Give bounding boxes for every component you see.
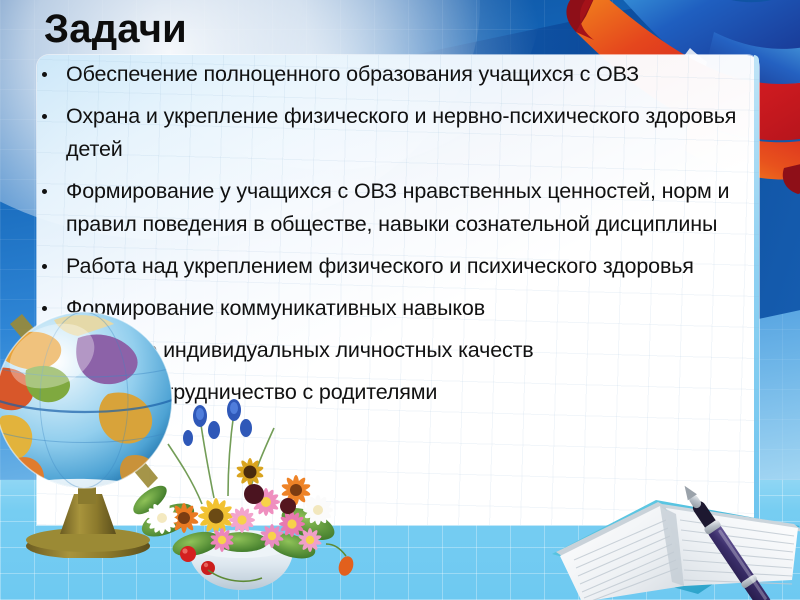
bullet-item: Формирование у учащихся с ОВЗ нравственн… <box>38 175 750 241</box>
bullet-item: Охрана и укрепление физического и нервно… <box>38 100 750 166</box>
bullet-item: Обеспечение полноценного образования уча… <box>38 58 750 91</box>
open-book-with-pen-illustration-icon <box>508 404 800 600</box>
flower-bouquet-illustration-icon <box>96 394 371 594</box>
bullet-item: Работа над укреплением физического и пси… <box>38 250 750 283</box>
slide-canvas: Задачи Обеспечение полноценного образова… <box>0 0 800 600</box>
slide-title: Задачи <box>44 6 187 52</box>
